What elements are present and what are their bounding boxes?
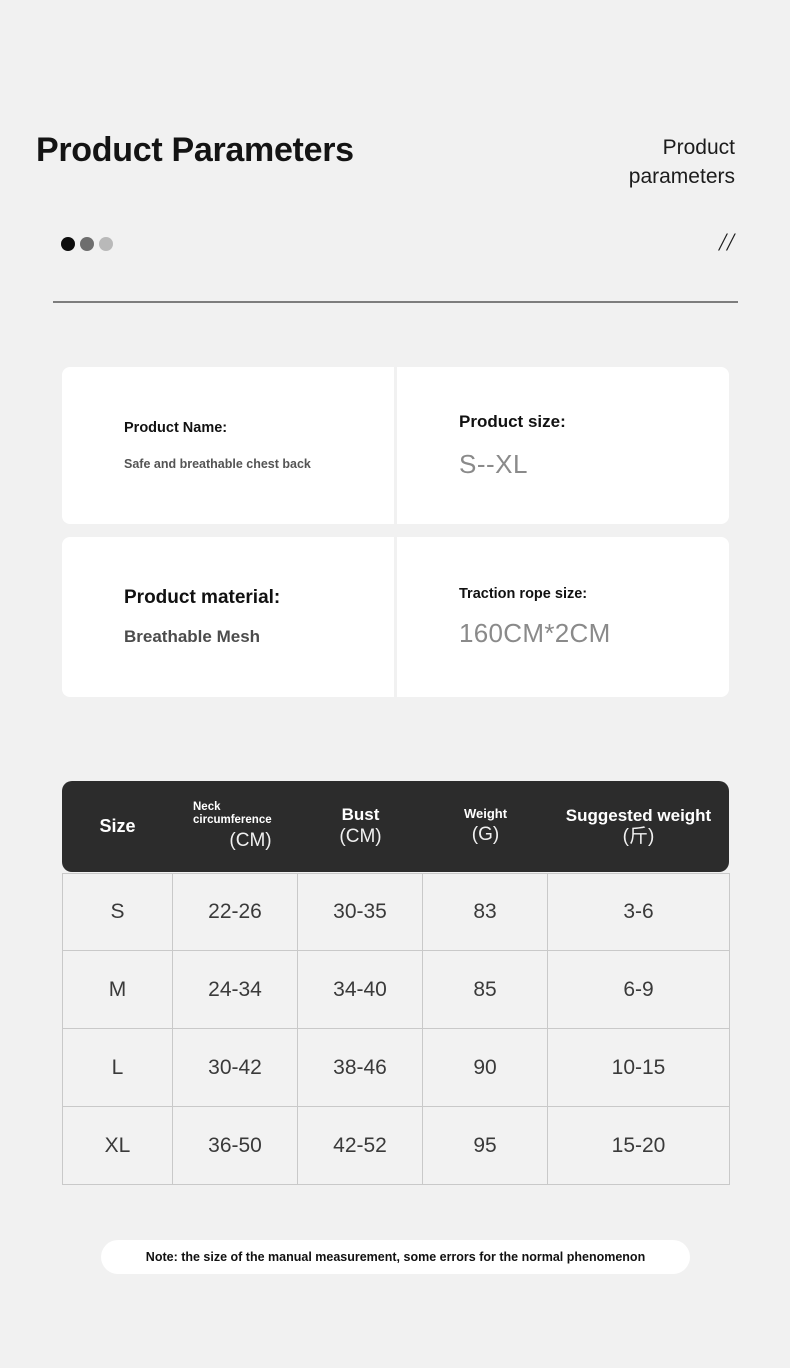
size-table-header-bust: Bust (CM) [298, 781, 423, 872]
cell-weight: 83 [423, 873, 548, 951]
cell-bust: 30-35 [298, 873, 423, 951]
header-divider [53, 301, 738, 303]
info-card-value: Safe and breathable chest back [124, 457, 394, 471]
page-header: Product Parameters Product parameters // [0, 0, 790, 310]
cell-size: M [62, 951, 173, 1029]
cell-neck: 36-50 [173, 1107, 298, 1185]
cell-neck: 30-42 [173, 1029, 298, 1107]
size-table-body: S 22-26 30-35 83 3-6 M 24-34 34-40 85 6-… [62, 873, 730, 1185]
measurement-note: Note: the size of the manual measurement… [101, 1240, 690, 1274]
info-card-product-name: Product Name: Safe and breathable chest … [62, 367, 394, 524]
cell-weight: 90 [423, 1029, 548, 1107]
cell-size: S [62, 873, 173, 951]
size-table-header-size: Size [62, 781, 173, 872]
cell-bust: 42-52 [298, 1107, 423, 1185]
table-row: S 22-26 30-35 83 3-6 [62, 873, 730, 951]
page-subtitle: Product parameters [505, 133, 735, 191]
info-card-row-1: Product Name: Safe and breathable chest … [62, 367, 729, 524]
cell-suggested: 10-15 [548, 1029, 730, 1107]
info-card-label: Product size: [459, 412, 729, 432]
info-card-label: Product material: [124, 587, 394, 609]
page-subtitle-line1: Product [505, 133, 735, 162]
circle-icon-dark [61, 237, 75, 251]
cell-bust: 38-46 [298, 1029, 423, 1107]
size-table-header-weight: Weight (G) [423, 781, 548, 872]
cell-suggested: 15-20 [548, 1107, 730, 1185]
info-card-value: S--XL [459, 449, 729, 480]
info-card-row-2: Product material: Breathable Mesh Tracti… [62, 537, 729, 697]
size-table-header-neck: Neck circumference (CM) [173, 781, 298, 872]
cell-suggested: 6-9 [548, 951, 730, 1029]
page-title: Product Parameters [36, 131, 354, 170]
page-subtitle-line2: parameters [505, 162, 735, 191]
cell-size: L [62, 1029, 173, 1107]
cell-weight: 95 [423, 1107, 548, 1185]
info-cards: Product Name: Safe and breathable chest … [62, 367, 729, 710]
info-card-traction-rope-size: Traction rope size: 160CM*2CM [397, 537, 729, 697]
info-card-product-material: Product material: Breathable Mesh [62, 537, 394, 697]
cell-neck: 22-26 [173, 873, 298, 951]
table-row: L 30-42 38-46 90 10-15 [62, 1029, 730, 1107]
decorative-dots [61, 237, 113, 251]
cell-neck: 24-34 [173, 951, 298, 1029]
info-card-value: 160CM*2CM [459, 618, 729, 649]
slash-decoration: // [719, 229, 735, 257]
table-row: XL 36-50 42-52 95 15-20 [62, 1107, 730, 1185]
size-table-header-suggested-weight: Suggested weight (斤) [548, 781, 729, 872]
cell-weight: 85 [423, 951, 548, 1029]
info-card-label: Product Name: [124, 420, 394, 436]
circle-icon-medium [80, 237, 94, 251]
info-card-label: Traction rope size: [459, 586, 729, 602]
size-table: Size Neck circumference (CM) Bust (CM) W… [62, 781, 729, 1185]
table-row: M 24-34 34-40 85 6-9 [62, 951, 730, 1029]
info-card-value: Breathable Mesh [124, 627, 394, 647]
info-card-product-size: Product size: S--XL [397, 367, 729, 524]
cell-size: XL [62, 1107, 173, 1185]
cell-suggested: 3-6 [548, 873, 730, 951]
size-table-header-row: Size Neck circumference (CM) Bust (CM) W… [62, 781, 729, 872]
circle-icon-light [99, 237, 113, 251]
cell-bust: 34-40 [298, 951, 423, 1029]
